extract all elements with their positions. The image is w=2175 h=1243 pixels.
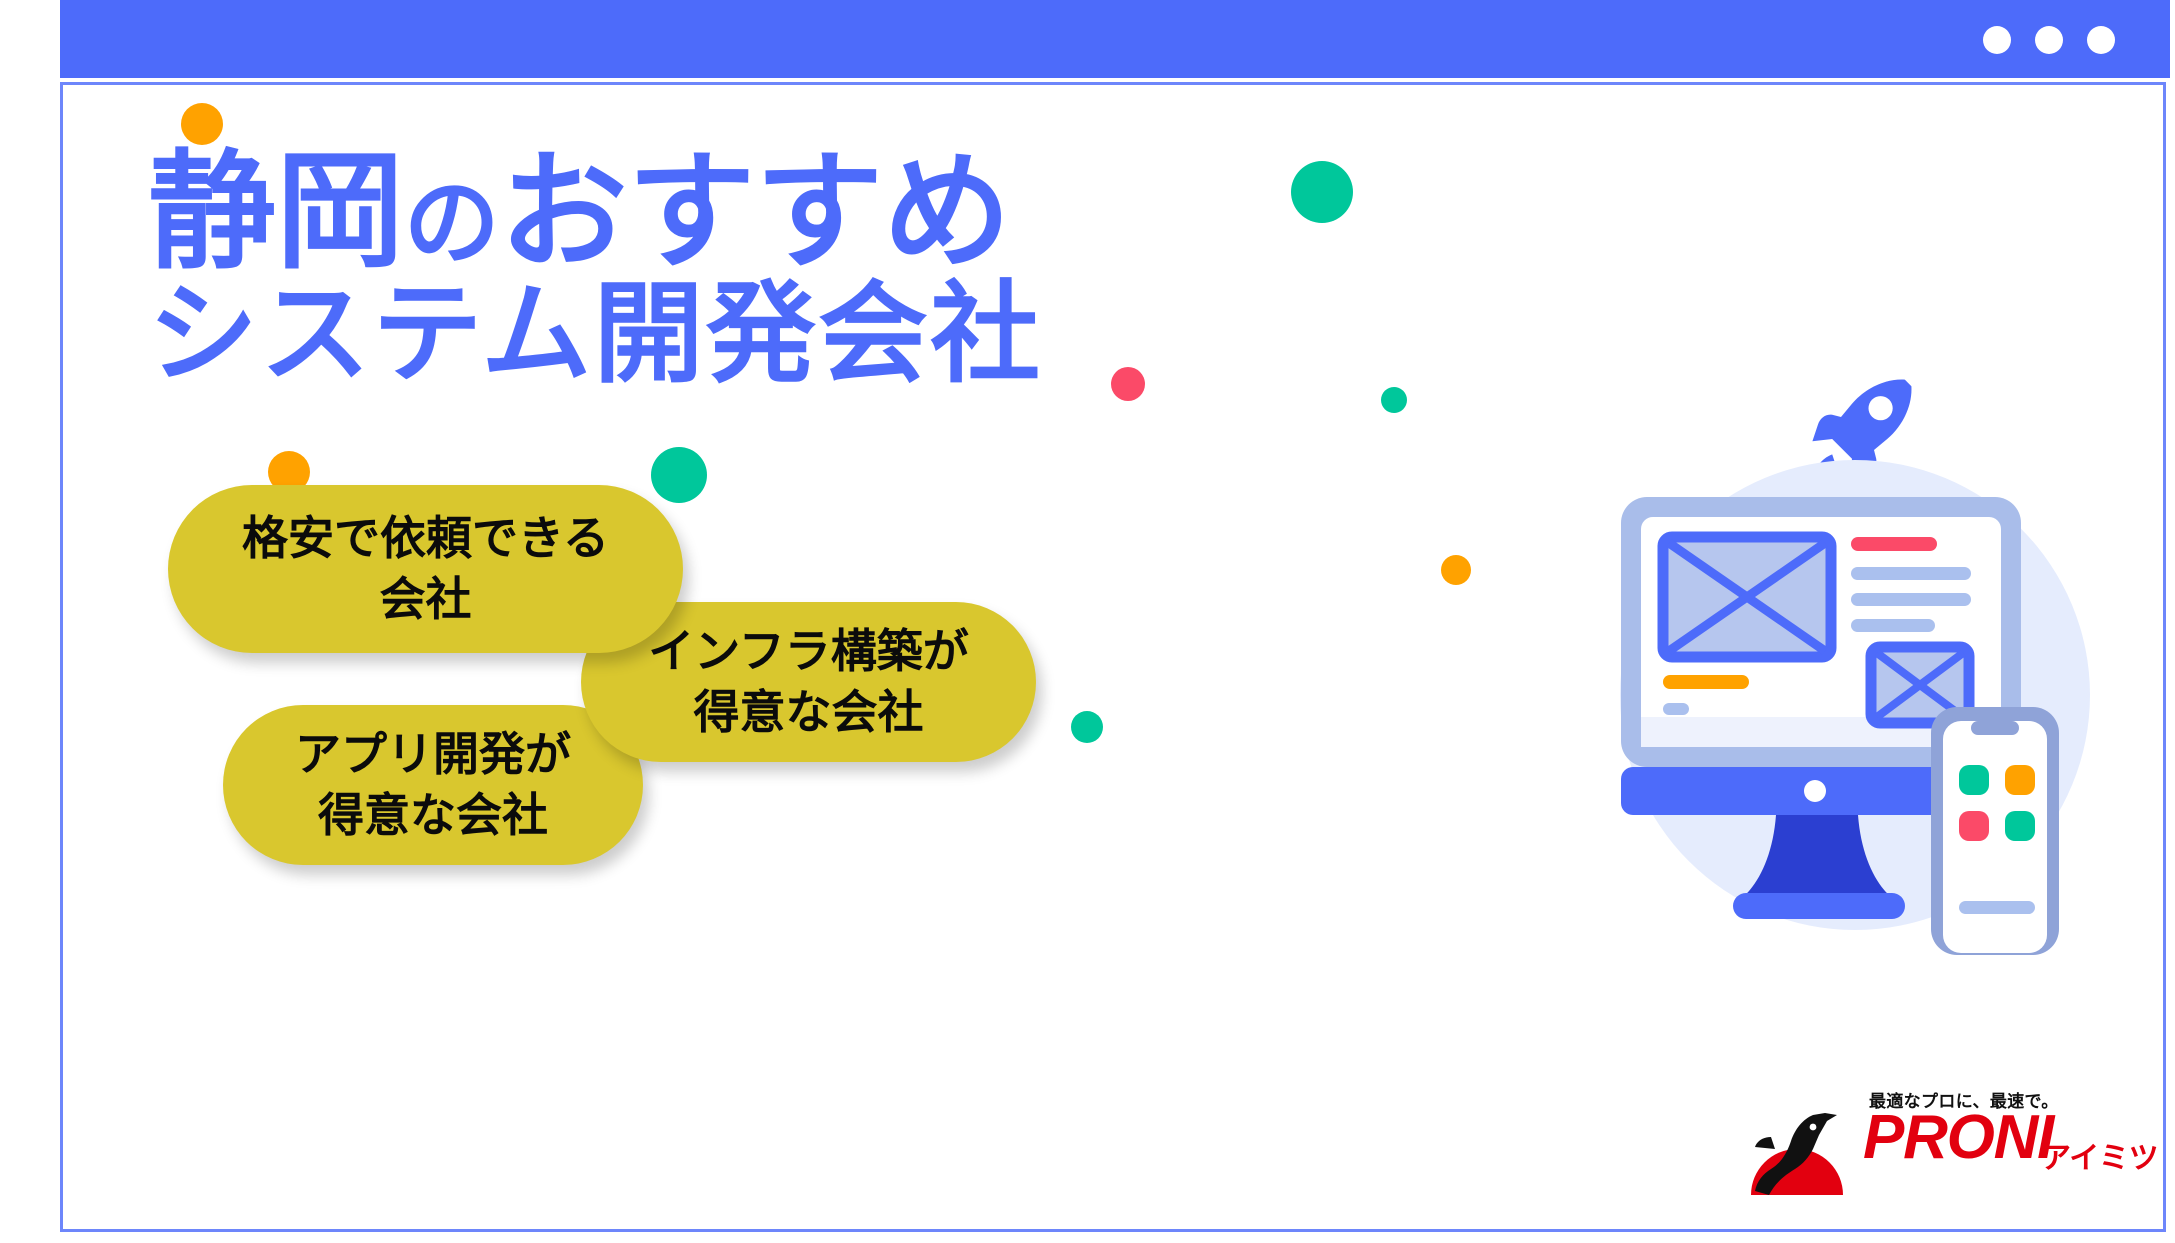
badge-infra-line2: 得意な会社	[648, 682, 969, 743]
page-title: 静岡のおすすめ システム開発会社	[148, 150, 1042, 389]
window-controls	[1983, 26, 2115, 54]
browser-viewport: 静岡のおすすめ システム開発会社 格安で依頼できる 会社 インフラ構築が 得意な…	[60, 82, 2166, 1232]
dot-teal-top-right	[1291, 161, 1353, 223]
window-dot-1[interactable]	[1983, 26, 2011, 54]
window-dot-2[interactable]	[2035, 26, 2063, 54]
dot-teal-mid-left	[651, 447, 707, 503]
browser-window: 静岡のおすすめ システム開発会社 格安で依頼できる 会社 インフラ構築が 得意な…	[60, 0, 2170, 1243]
title-line-1-main: 静岡	[148, 141, 404, 284]
dot-orange-right	[1441, 555, 1471, 585]
title-line-1: 静岡のおすすめ	[148, 150, 1042, 275]
dot-orange-top-left	[181, 103, 223, 145]
proni-logo: 最適なプロに、最速で。 PRONI アイミツ	[1741, 1081, 2101, 1201]
window-dot-3[interactable]	[2087, 26, 2115, 54]
logo-subword: アイミツ	[2041, 1133, 2158, 1177]
badge-app-development-companies[interactable]: アプリ開発が 得意な会社	[223, 705, 643, 865]
browser-titlebar	[60, 0, 2170, 78]
title-line-1-particle: の	[404, 170, 500, 277]
dot-teal-small-right	[1381, 387, 1407, 413]
slide-canvas: 静岡のおすすめ システム開発会社 格安で依頼できる 会社 インフラ構築が 得意な…	[0, 0, 2175, 1243]
logo-wordmark: PRONI	[1863, 1107, 2053, 1169]
title-line-2: システム開発会社	[148, 281, 1042, 389]
badge-app-line2: 得意な会社	[295, 785, 571, 846]
badge-cheap-line1: 格安で依頼できる	[242, 508, 609, 569]
penguin-icon	[1741, 1109, 1859, 1195]
badge-infra-line1: インフラ構築が	[648, 621, 969, 682]
badge-cheap-line2: 会社	[242, 569, 609, 630]
dot-teal-bottom-right	[1071, 711, 1103, 743]
dot-pink-right	[1111, 367, 1145, 401]
badge-cheap-companies[interactable]: 格安で依頼できる 会社	[168, 485, 683, 653]
title-line-1-rest: おすすめ	[500, 141, 1011, 284]
badge-app-line1: アプリ開発が	[295, 724, 571, 785]
monitor-and-phone-illustration	[1593, 405, 2113, 965]
